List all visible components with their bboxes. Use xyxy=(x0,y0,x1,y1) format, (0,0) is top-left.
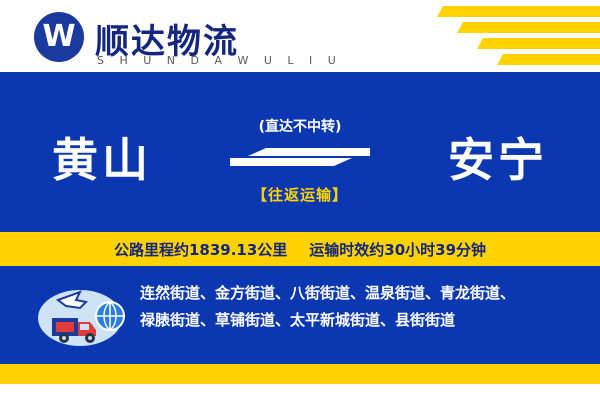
bottom-white-strip xyxy=(0,384,600,400)
main-blue-panel: 黄山 (直达不中转) 安宁 【往返运输】 公路里程约1839.13公里 运输时效… xyxy=(0,72,600,364)
truck-globe-plane-icon xyxy=(36,278,132,352)
stripe-4 xyxy=(497,54,600,65)
logistics-w-logo-icon: W xyxy=(34,12,84,62)
poster-root: W 顺达物流 S H U N D A W U L I U 黄山 (直达不中转) … xyxy=(0,0,600,400)
double-arrow-icon xyxy=(230,144,370,178)
logo-letter: W xyxy=(34,12,84,62)
round-trip-note: 【往返运输】 xyxy=(0,184,600,205)
header: W 顺达物流 S H U N D A W U L I U xyxy=(0,0,600,72)
route-section: 黄山 (直达不中转) 安宁 【往返运输】 xyxy=(0,92,600,207)
duration-text: 运输时效约30小时39分钟 xyxy=(309,239,486,260)
info-bar: 公路里程约1839.13公里 运输时效约30小时39分钟 xyxy=(0,232,600,266)
streets-line-1: 连然街道、金方街道、八街街道、温泉街道、青龙街道、 xyxy=(140,280,570,307)
streets-section: 连然街道、金方街道、八街街道、温泉街道、青龙街道、 禄脿街道、草铺街道、太平新城… xyxy=(0,272,600,364)
stripe-2 xyxy=(457,22,600,33)
header-stripes-decoration xyxy=(360,0,600,72)
stripe-3 xyxy=(477,38,600,49)
streets-line-2: 禄脿街道、草铺街道、太平新城街道、县街街道 xyxy=(140,307,570,334)
bottom-yellow-strip xyxy=(0,364,600,384)
destination-city: 安宁 xyxy=(448,124,548,190)
streets-list: 连然街道、金方街道、八街街道、温泉街道、青龙街道、 禄脿街道、草铺街道、太平新城… xyxy=(140,280,570,334)
stripe-1 xyxy=(437,6,600,17)
brand-name-pinyin: S H U N D A W U L I U xyxy=(97,54,342,67)
distance-text: 公路里程约1839.13公里 xyxy=(114,239,287,260)
